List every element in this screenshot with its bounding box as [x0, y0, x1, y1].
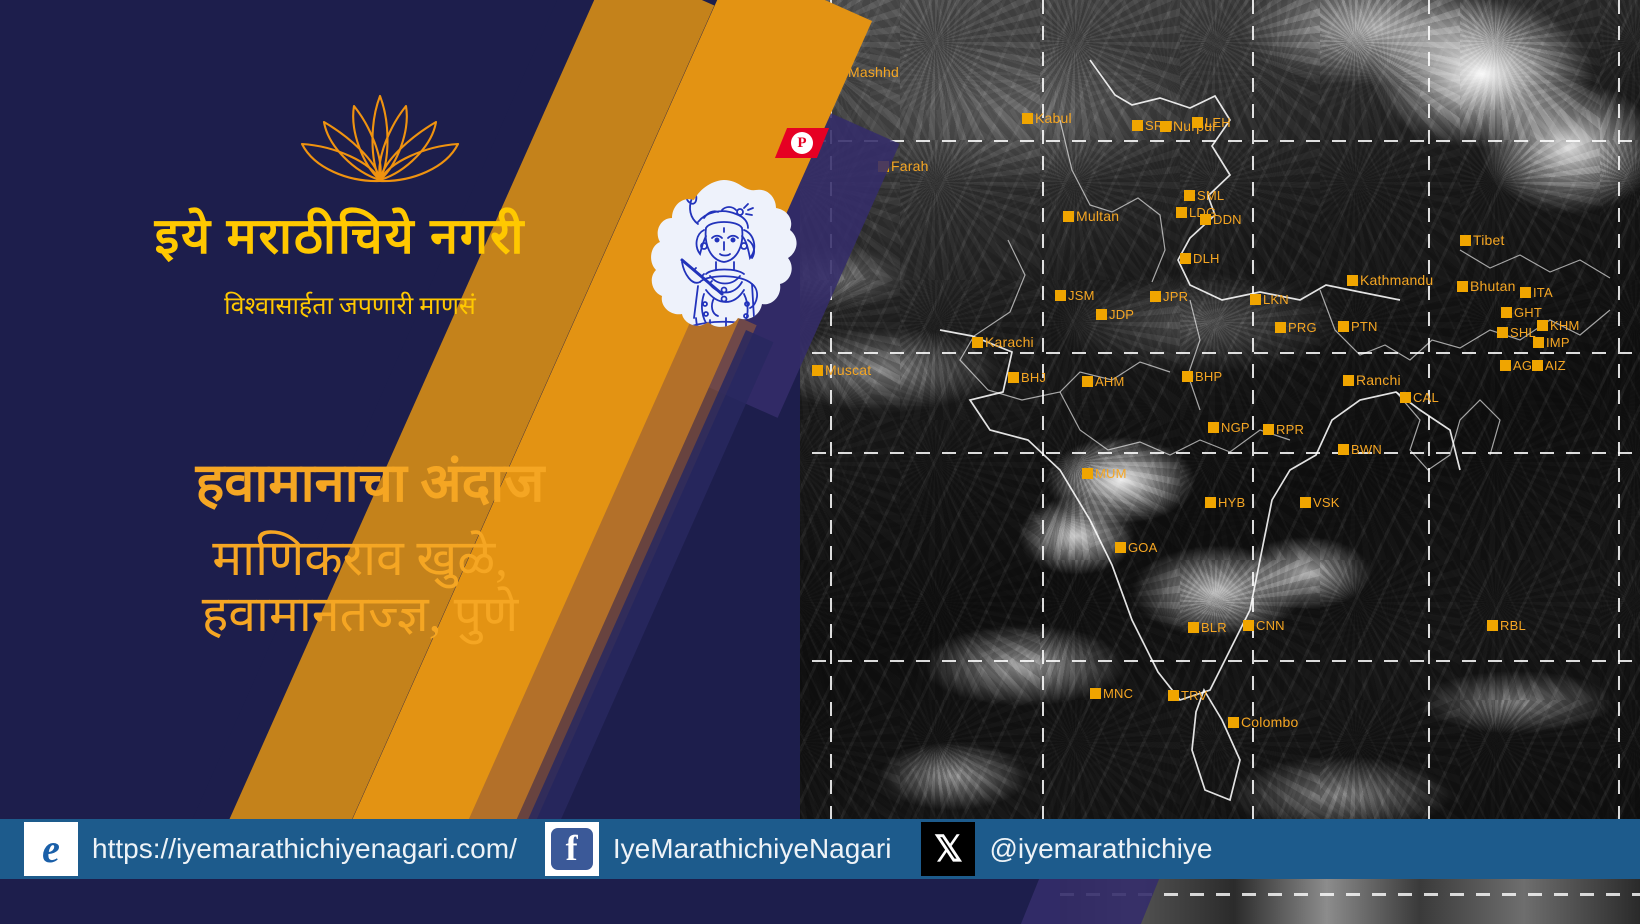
- city-dot-icon: [1182, 371, 1193, 382]
- author-name: माणिकराव खुळे,: [30, 530, 690, 586]
- city-label: MUM: [1095, 466, 1127, 481]
- city-dot-icon: [1497, 327, 1508, 338]
- city-label: CAL: [1413, 390, 1439, 405]
- city-label: LKN: [1263, 292, 1289, 307]
- city-dot-icon: [1338, 444, 1349, 455]
- map-city-marker: SML: [1184, 188, 1224, 203]
- city-label: Farah: [891, 158, 929, 174]
- city-dot-icon: [1520, 287, 1531, 298]
- city-label: Mashhd: [848, 64, 899, 80]
- map-city-marker: CAL: [1400, 390, 1439, 405]
- x-handle: @iyemarathichiye: [989, 833, 1212, 865]
- city-label: NGP: [1221, 420, 1250, 435]
- city-dot-icon: [1090, 688, 1101, 699]
- city-dot-icon: [1338, 321, 1349, 332]
- lotus-icon: [292, 82, 468, 186]
- city-dot-icon: [1300, 497, 1311, 508]
- city-dot-icon: [1082, 468, 1093, 479]
- pinterest-icon: P: [791, 132, 813, 154]
- city-dot-icon: [1168, 690, 1179, 701]
- map-city-marker: MUM: [1082, 466, 1127, 481]
- footer-facebook[interactable]: IyeMarathichiyeNagari: [545, 819, 892, 879]
- city-dot-icon: [1400, 392, 1411, 403]
- city-label: PTN: [1351, 319, 1378, 334]
- map-city-marker: PTN: [1338, 319, 1378, 334]
- social-footer-bar: e https://iyemarathichiyenagari.com/ Iye…: [0, 819, 1640, 879]
- city-dot-icon: [1263, 424, 1274, 435]
- city-dot-icon: [1082, 376, 1093, 387]
- city-dot-icon: [1180, 253, 1191, 264]
- city-dot-icon: [1460, 235, 1471, 246]
- map-city-marker: JPR: [1150, 289, 1188, 304]
- city-dot-icon: [1200, 214, 1211, 225]
- city-dot-icon: [1347, 275, 1358, 286]
- map-city-marker: BWN: [1338, 442, 1382, 457]
- map-city-marker: Karachi: [972, 334, 1034, 350]
- city-dot-icon: [1055, 290, 1066, 301]
- city-label: HYB: [1218, 495, 1245, 510]
- city-label: MNC: [1103, 686, 1133, 701]
- city-label: BWN: [1351, 442, 1382, 457]
- map-city-marker: RBL: [1487, 618, 1526, 633]
- city-dot-icon: [1160, 121, 1171, 132]
- map-city-marker: MNC: [1090, 686, 1133, 701]
- map-city-marker: RPR: [1263, 422, 1304, 437]
- city-label: TRV: [1181, 688, 1207, 703]
- page-title: हवामानाचा अंदाज: [30, 455, 710, 511]
- city-dot-icon: [1208, 422, 1219, 433]
- city-dot-icon: [1205, 497, 1216, 508]
- city-dot-icon: [1275, 322, 1286, 333]
- author-title: हवामानतज्ज्ञ, पुणे: [30, 586, 690, 642]
- city-label: Kabul: [1035, 110, 1072, 126]
- map-city-marker: LEH: [1192, 115, 1231, 130]
- city-label: AIZ: [1545, 358, 1566, 373]
- city-label: RPR: [1276, 422, 1304, 437]
- city-dot-icon: [972, 337, 983, 348]
- map-city-marker: Ranchi: [1343, 372, 1401, 388]
- city-label: Tibet: [1473, 232, 1505, 248]
- city-dot-icon: [1343, 375, 1354, 386]
- city-label: JSM: [1068, 288, 1095, 303]
- city-label: KHM: [1550, 318, 1580, 333]
- map-city-marker: CNN: [1243, 618, 1285, 633]
- city-label: PRG: [1288, 320, 1317, 335]
- weather-forecast-graphic: MashhdFarahKabulMultanSRNNurpurLEHSMLLDG…: [0, 0, 1640, 924]
- map-city-marker: Multan: [1063, 208, 1119, 224]
- city-label: Multan: [1076, 208, 1119, 224]
- map-city-marker: Tibet: [1460, 232, 1505, 248]
- city-dot-icon: [1250, 294, 1261, 305]
- city-dot-icon: [1501, 307, 1512, 318]
- krishna-illustration: [648, 178, 800, 338]
- city-label: DDN: [1213, 212, 1242, 227]
- city-dot-icon: [1176, 207, 1187, 218]
- map-city-marker: KHM: [1537, 318, 1580, 333]
- map-city-marker: Kabul: [1022, 110, 1072, 126]
- city-dot-icon: [1184, 190, 1195, 201]
- city-dot-icon: [1532, 360, 1543, 371]
- city-dot-icon: [1243, 620, 1254, 631]
- city-dot-icon: [812, 365, 823, 376]
- city-dot-icon: [1096, 309, 1107, 320]
- city-label: LEH: [1205, 115, 1231, 130]
- city-dot-icon: [1022, 113, 1033, 124]
- city-dot-icon: [1192, 117, 1203, 128]
- city-label: SHL: [1510, 325, 1536, 340]
- map-city-marker: GHT: [1501, 305, 1542, 320]
- map-city-marker: BHP: [1182, 369, 1222, 384]
- city-label: JDP: [1109, 307, 1134, 322]
- city-dot-icon: [1457, 281, 1468, 292]
- map-city-marker: JSM: [1055, 288, 1095, 303]
- map-city-marker: AHM: [1082, 374, 1125, 389]
- city-label: GOA: [1128, 540, 1158, 555]
- city-label: Muscat: [825, 362, 871, 378]
- map-city-marker: JDP: [1096, 307, 1134, 322]
- satellite-map: MashhdFarahKabulMultanSRNNurpurLEHSMLLDG…: [760, 0, 1640, 924]
- city-label: RBL: [1500, 618, 1526, 633]
- map-city-marker: Kathmandu: [1347, 272, 1433, 288]
- city-label: AHM: [1095, 374, 1125, 389]
- map-city-marker: BLR: [1188, 620, 1227, 635]
- map-city-marker: SHL: [1497, 325, 1536, 340]
- map-city-marker: NGP: [1208, 420, 1250, 435]
- map-city-marker: DDN: [1200, 212, 1242, 227]
- website-url: https://iyemarathichiyenagari.com/: [92, 833, 517, 865]
- map-city-marker: Colombo: [1228, 714, 1298, 730]
- city-label: CNN: [1256, 618, 1285, 633]
- city-label: Colombo: [1241, 714, 1298, 730]
- map-city-marker: DLH: [1180, 251, 1220, 266]
- city-dot-icon: [1150, 291, 1161, 302]
- footer-x[interactable]: 𝕏 @iyemarathichiye: [921, 819, 1212, 879]
- city-label: VSK: [1313, 495, 1340, 510]
- city-dot-icon: [1487, 620, 1498, 631]
- map-city-marker: BHJ: [1008, 370, 1046, 385]
- city-label: DLH: [1193, 251, 1220, 266]
- city-label: IMP: [1546, 335, 1570, 350]
- map-city-marker: TRV: [1168, 688, 1207, 703]
- city-label: JPR: [1163, 289, 1188, 304]
- city-label: BLR: [1201, 620, 1227, 635]
- city-label: Karachi: [985, 334, 1034, 350]
- city-label: Ranchi: [1356, 372, 1401, 388]
- city-dot-icon: [1537, 320, 1548, 331]
- map-city-marker: IMP: [1533, 335, 1570, 350]
- map-city-marker: PRG: [1275, 320, 1317, 335]
- map-city-marker: Bhutan: [1457, 278, 1516, 294]
- city-label: ITA: [1533, 285, 1553, 300]
- map-city-marker: ITA: [1520, 285, 1553, 300]
- brand-tagline: विश्वासार्हता जपणारी माणसं: [0, 288, 700, 322]
- footer-underlay: [0, 879, 1640, 924]
- branding-panel: इये मराठीचिये नगरी विश्वासार्हता जपणारी …: [0, 0, 800, 924]
- city-label: BHJ: [1021, 370, 1046, 385]
- facebook-handle: IyeMarathichiyeNagari: [613, 833, 892, 865]
- city-label: BHP: [1195, 369, 1222, 384]
- x-twitter-icon: 𝕏: [921, 822, 975, 876]
- map-city-marker: VSK: [1300, 495, 1340, 510]
- coastline-borders: [760, 0, 1640, 924]
- map-city-marker: AIZ: [1532, 358, 1566, 373]
- city-dot-icon: [1533, 337, 1544, 348]
- map-city-marker: GOA: [1115, 540, 1158, 555]
- city-label: Bhutan: [1470, 278, 1516, 294]
- city-dot-icon: [1188, 622, 1199, 633]
- map-city-marker: Muscat: [812, 362, 871, 378]
- city-dot-icon: [1228, 717, 1239, 728]
- internet-explorer-icon: e: [24, 822, 78, 876]
- city-dot-icon: [1063, 211, 1074, 222]
- city-label: SML: [1197, 188, 1224, 203]
- city-dot-icon: [1500, 360, 1511, 371]
- footer-website[interactable]: e https://iyemarathichiyenagari.com/: [24, 819, 517, 879]
- map-city-marker: HYB: [1205, 495, 1245, 510]
- brand-title: इये मराठीचिये नगरी: [0, 200, 680, 268]
- footer-ribbon-tail: [1021, 879, 1159, 924]
- map-city-marker: LKN: [1250, 292, 1289, 307]
- city-dot-icon: [1115, 542, 1126, 553]
- facebook-icon: [545, 822, 599, 876]
- city-dot-icon: [1132, 120, 1143, 131]
- city-label: Kathmandu: [1360, 272, 1433, 288]
- city-dot-icon: [1008, 372, 1019, 383]
